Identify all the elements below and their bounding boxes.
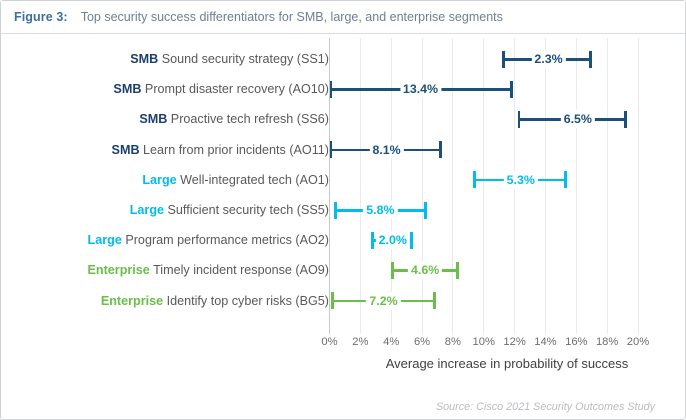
row-label: Enterprise Timely incident response (AO9…	[88, 255, 329, 285]
ci-cap-right	[439, 141, 442, 158]
value-label: 8.1%	[369, 141, 403, 159]
x-axis-ticks: 0%2%4%6%8%10%12%14%16%18%20%	[1, 336, 685, 356]
value-label: 6.5%	[561, 110, 595, 128]
x-tick-label: 6%	[414, 336, 430, 348]
chart-row: SMB Proactive tech refresh (SS6)6.5%	[1, 104, 685, 134]
ci-cap-left	[330, 141, 333, 158]
row-segment-label: Large	[88, 233, 122, 247]
ci-cap-left	[331, 292, 334, 309]
ci-cap-left	[371, 232, 374, 249]
figure-header: Figure 3: Top security success different…	[1, 1, 685, 34]
ci-cap-right	[424, 202, 427, 219]
row-label: SMB Proactive tech refresh (SS6)	[139, 104, 329, 134]
figure-number-label: Figure 3:	[14, 10, 68, 24]
row-segment-label: SMB	[112, 143, 140, 157]
row-segment-label: Enterprise	[101, 294, 163, 308]
row-segment-label: Large	[130, 203, 164, 217]
chart-row: Enterprise Identify top cyber risks (BG5…	[1, 286, 685, 316]
row-metric-label: Sufficient security tech (SS5)	[164, 203, 329, 217]
ci-cap-right	[624, 111, 627, 128]
row-label: SMB Sound security strategy (SS1)	[130, 44, 329, 74]
figure-card: Figure 3: Top security success different…	[0, 0, 686, 420]
ci-cap-right	[433, 292, 436, 309]
x-tick-label: 10%	[473, 336, 495, 348]
row-metric-label: Prompt disaster recovery (AO10)	[141, 82, 329, 96]
x-tick-label: 14%	[534, 336, 556, 348]
x-axis-title-text: Average increase in probability of succe…	[386, 356, 629, 371]
chart-row: SMB Prompt disaster recovery (AO10)13.4%	[1, 74, 685, 104]
value-label: 5.3%	[504, 171, 538, 189]
x-axis-title: Average increase in probability of succe…	[1, 356, 685, 371]
value-label: 2.0%	[376, 231, 410, 249]
ci-cap-right	[456, 262, 459, 279]
x-tick-label: 16%	[565, 336, 587, 348]
x-tick-label: 12%	[503, 336, 525, 348]
row-label: Large Sufficient security tech (SS5)	[130, 195, 329, 225]
row-segment-label: Large	[142, 173, 176, 187]
x-tick-label: 2%	[352, 336, 368, 348]
value-label: 7.2%	[366, 292, 400, 310]
row-segment-label: SMB	[139, 112, 167, 126]
value-label: 5.8%	[363, 201, 397, 219]
chart-row: SMB Sound security strategy (SS1)2.3%	[1, 44, 685, 74]
x-tick-label: 4%	[383, 336, 399, 348]
x-tick-label: 18%	[596, 336, 618, 348]
figure-title: Top security success differentiators for…	[81, 10, 503, 24]
x-tick-label: 20%	[627, 336, 649, 348]
row-label: Large Well-integrated tech (AO1)	[142, 165, 329, 195]
chart-row: Large Sufficient security tech (SS5)5.8%	[1, 195, 685, 225]
value-label: 2.3%	[531, 50, 565, 68]
value-label: 4.6%	[408, 261, 442, 279]
x-tick-label: 0%	[321, 336, 337, 348]
row-metric-label: Sound security strategy (SS1)	[158, 52, 329, 66]
row-metric-label: Well-integrated tech (AO1)	[177, 173, 329, 187]
chart-row: Large Program performance metrics (AO2)2…	[1, 225, 685, 255]
value-label: 13.4%	[400, 80, 441, 98]
row-label: Large Program performance metrics (AO2)	[88, 225, 329, 255]
row-metric-label: Identify top cyber risks (BG5)	[163, 294, 329, 308]
row-label: SMB Learn from prior incidents (AO11)	[112, 135, 329, 165]
row-segment-label: SMB	[113, 82, 141, 96]
ci-cap-left	[502, 51, 505, 68]
row-label: SMB Prompt disaster recovery (AO10)	[113, 74, 329, 104]
chart-plot-area: SMB Sound security strategy (SS1)2.3%SMB…	[1, 34, 685, 420]
row-label: Enterprise Identify top cyber risks (BG5…	[101, 286, 329, 316]
row-metric-label: Proactive tech refresh (SS6)	[167, 112, 329, 126]
chart-row: Enterprise Timely incident response (AO9…	[1, 255, 685, 285]
row-segment-label: Enterprise	[88, 263, 150, 277]
x-tick-label: 8%	[445, 336, 461, 348]
ci-cap-right	[589, 51, 592, 68]
row-metric-label: Learn from prior incidents (AO11)	[140, 143, 329, 157]
source-note: Source: Cisco 2021 Security Outcomes Stu…	[436, 401, 655, 413]
ci-cap-left	[473, 171, 476, 188]
chart-row: Large Well-integrated tech (AO1)5.3%	[1, 165, 685, 195]
row-metric-label: Program performance metrics (AO2)	[122, 233, 329, 247]
row-metric-label: Timely incident response (AO9)	[150, 263, 329, 277]
ci-cap-left	[334, 202, 337, 219]
ci-cap-left	[391, 262, 394, 279]
ci-cap-right	[564, 171, 567, 188]
ci-cap-left	[518, 111, 521, 128]
chart-row: SMB Learn from prior incidents (AO11)8.1…	[1, 135, 685, 165]
ci-cap-right	[510, 81, 513, 98]
ci-cap-right	[410, 232, 413, 249]
row-segment-label: SMB	[130, 52, 158, 66]
ci-cap-left	[330, 81, 333, 98]
